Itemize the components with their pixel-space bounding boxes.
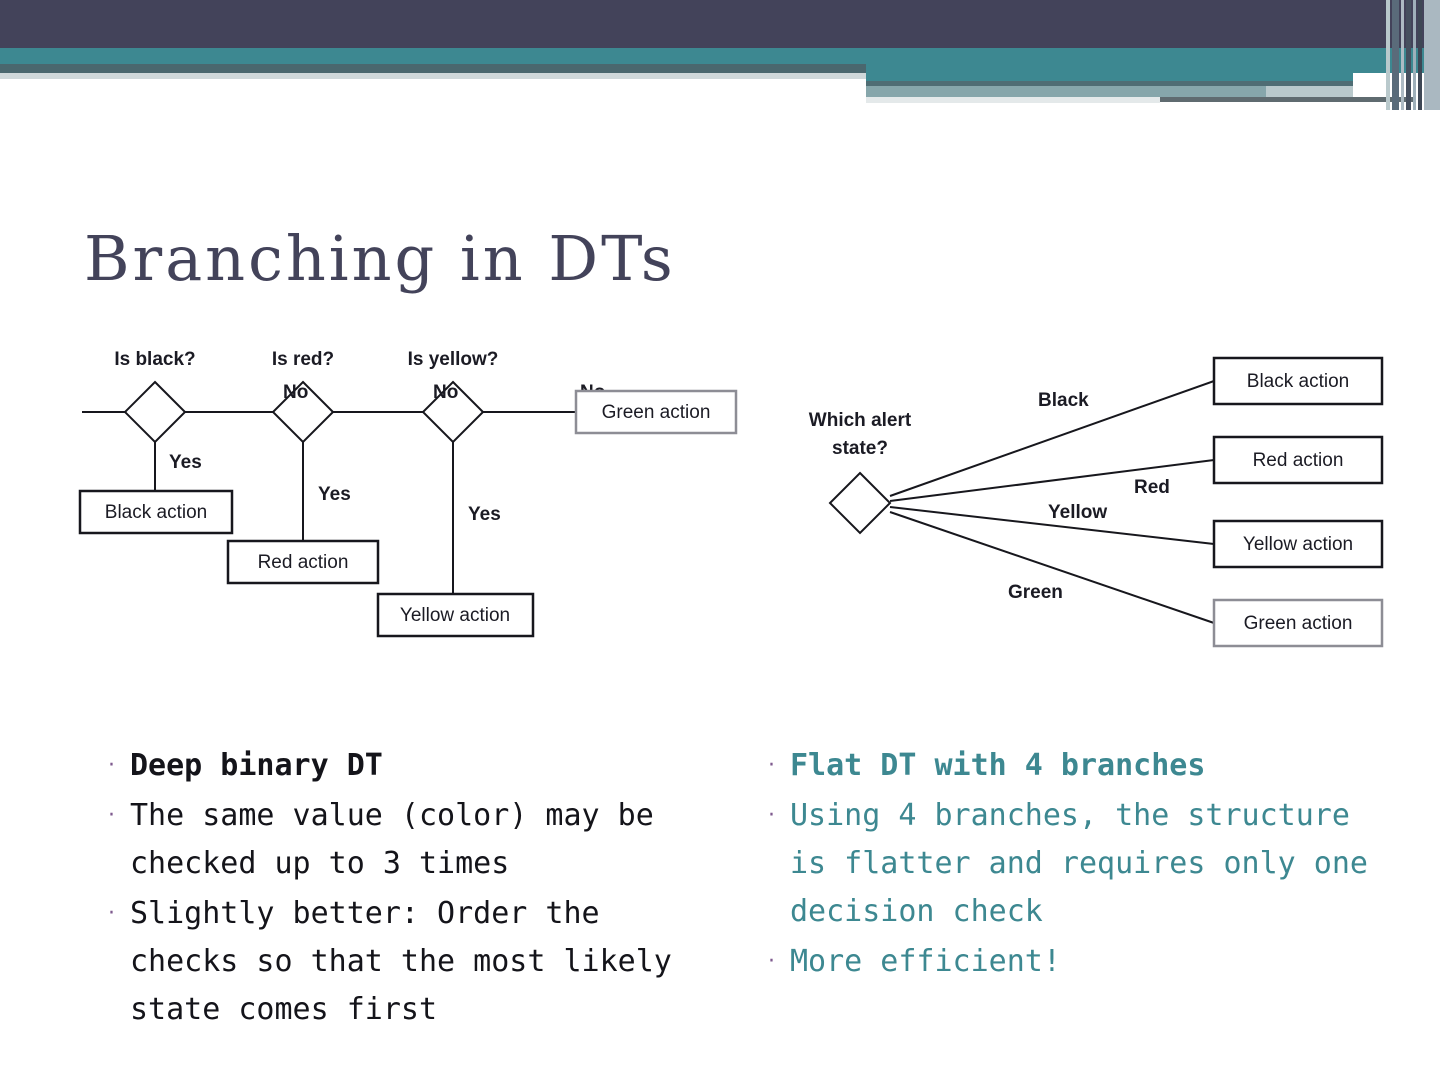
flat-action-box-red-label: Red action	[1253, 450, 1344, 471]
flat-action-box-black-label: Black action	[1247, 371, 1349, 392]
branch-label-yellow: Yellow	[1048, 502, 1107, 523]
flat-tree-diagram: Which alert state? Black Red Yellow Gree…	[790, 336, 1410, 666]
decision-label-is-yellow: Is yellow?	[408, 349, 499, 370]
decision-diamond-is-black	[125, 382, 185, 442]
bullet-dot-icon: ·	[768, 938, 790, 986]
list-item: · Slightly better: Order the checks so t…	[108, 890, 708, 1034]
root-label-line-1: Which alert	[809, 410, 912, 431]
root-decision-diamond	[830, 473, 890, 533]
edge-label-no-1: No	[283, 382, 308, 403]
list-item-text: More efficient!	[790, 938, 1388, 986]
branch-label-green: Green	[1008, 582, 1063, 603]
list-item: · Flat DT with 4 branches	[768, 742, 1388, 790]
list-item-text: Flat DT with 4 branches	[790, 742, 1388, 790]
action-box-black-label: Black action	[105, 502, 207, 523]
header-slate-line-left	[0, 64, 866, 73]
header-vertical-stripe-1	[1392, 0, 1399, 110]
edge-label-yes-1: Yes	[169, 452, 202, 473]
branch-label-black: Black	[1038, 390, 1089, 411]
header-vertical-stripe-5	[1418, 0, 1422, 110]
edge-label-yes-3: Yes	[468, 504, 501, 525]
decision-label-is-red: Is red?	[272, 349, 334, 370]
right-bullet-list: · Flat DT with 4 branches · Using 4 bran…	[768, 742, 1388, 988]
bullet-dot-icon: ·	[768, 742, 790, 790]
header-mid-gray-band	[866, 86, 1266, 97]
header-vertical-stripe-6	[1424, 0, 1440, 110]
edge-label-no-2: No	[433, 382, 458, 403]
list-item: · Using 4 branches, the structure is fla…	[768, 792, 1388, 936]
header-dark-thin-line	[1160, 97, 1414, 102]
branch-line-green	[890, 512, 1214, 623]
page-title: Branching in DTs	[84, 222, 676, 295]
decision-label-is-black: Is black?	[114, 349, 195, 370]
list-item-text: The same value (color) may be checked up…	[130, 792, 708, 888]
list-item: · Deep binary DT	[108, 742, 708, 790]
deep-binary-tree-diagram: Is black? Is red? Is yellow? No No No Ye…	[70, 336, 770, 656]
header-faint-strip	[866, 97, 1160, 103]
bullet-dot-icon: ·	[768, 792, 790, 840]
header-vertical-stripe-3	[1406, 0, 1411, 110]
branch-label-red: Red	[1134, 477, 1170, 498]
action-box-yellow-label: Yellow action	[400, 605, 510, 626]
list-item-text: Slightly better: Order the checks so tha…	[130, 890, 708, 1034]
header-mid-gray-band-2	[1266, 86, 1353, 97]
bullet-dot-icon: ·	[108, 792, 130, 840]
list-item-text: Using 4 branches, the structure is flatt…	[790, 792, 1388, 936]
header-vertical-stripe-2	[1401, 0, 1404, 110]
header-vertical-stripe-4	[1413, 0, 1416, 110]
flat-action-box-yellow-label: Yellow action	[1243, 534, 1353, 555]
list-item: · More efficient!	[768, 938, 1388, 986]
left-bullet-list: · Deep binary DT · The same value (color…	[108, 742, 708, 1036]
bullet-dot-icon: ·	[108, 742, 130, 790]
header-vertical-stripe-0	[1386, 0, 1390, 110]
header-pale-line-left	[0, 73, 866, 79]
root-label-line-2: state?	[832, 438, 888, 459]
slide-header-banner	[0, 0, 1440, 110]
header-teal-band-right	[866, 48, 1353, 81]
action-box-green-label: Green action	[602, 402, 711, 423]
bullet-dot-icon: ·	[108, 890, 130, 938]
flat-action-box-green-label: Green action	[1244, 613, 1353, 634]
list-item-text: Deep binary DT	[130, 742, 708, 790]
edge-label-yes-2: Yes	[318, 484, 351, 505]
list-item: · The same value (color) may be checked …	[108, 792, 708, 888]
action-box-red-label: Red action	[258, 552, 349, 573]
header-navy-band	[0, 0, 1440, 48]
